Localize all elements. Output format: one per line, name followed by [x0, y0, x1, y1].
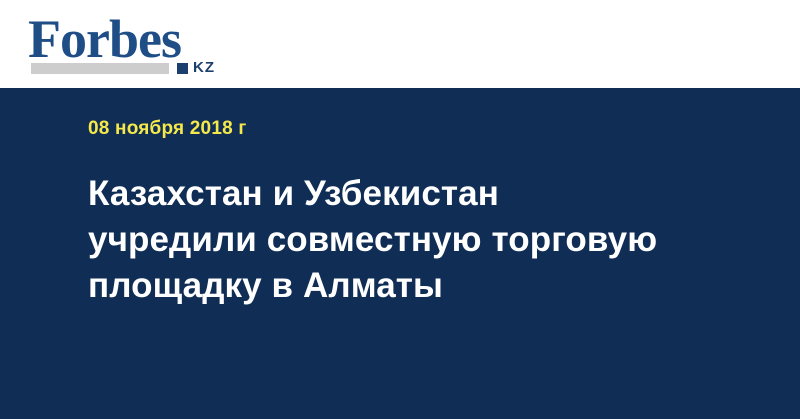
- page-title: Казахстан и Узбекистан учредили совместн…: [88, 171, 708, 309]
- hero-banner: 08 ноября 2018 г Казахстан и Узбекистан …: [0, 88, 800, 419]
- page-title-line-2: учредили совместную торговую: [88, 217, 708, 263]
- page-title-line-1: Казахстан и Узбекистан: [88, 171, 708, 217]
- site-header: Forbes KZ: [0, 0, 800, 88]
- logo-edition-label: KZ: [193, 60, 215, 76]
- logo-wordmark: Forbes: [28, 10, 181, 68]
- page-title-line-3: площадку в Алматы: [88, 263, 708, 309]
- article-card: Forbes KZ 08 ноября 2018 г Казахстан и У…: [0, 0, 800, 419]
- logo-square-icon: [177, 63, 188, 74]
- logo-underbar: [31, 63, 169, 74]
- forbes-kz-logo[interactable]: Forbes KZ: [28, 10, 238, 80]
- article-date: 08 ноября 2018 г: [88, 118, 246, 140]
